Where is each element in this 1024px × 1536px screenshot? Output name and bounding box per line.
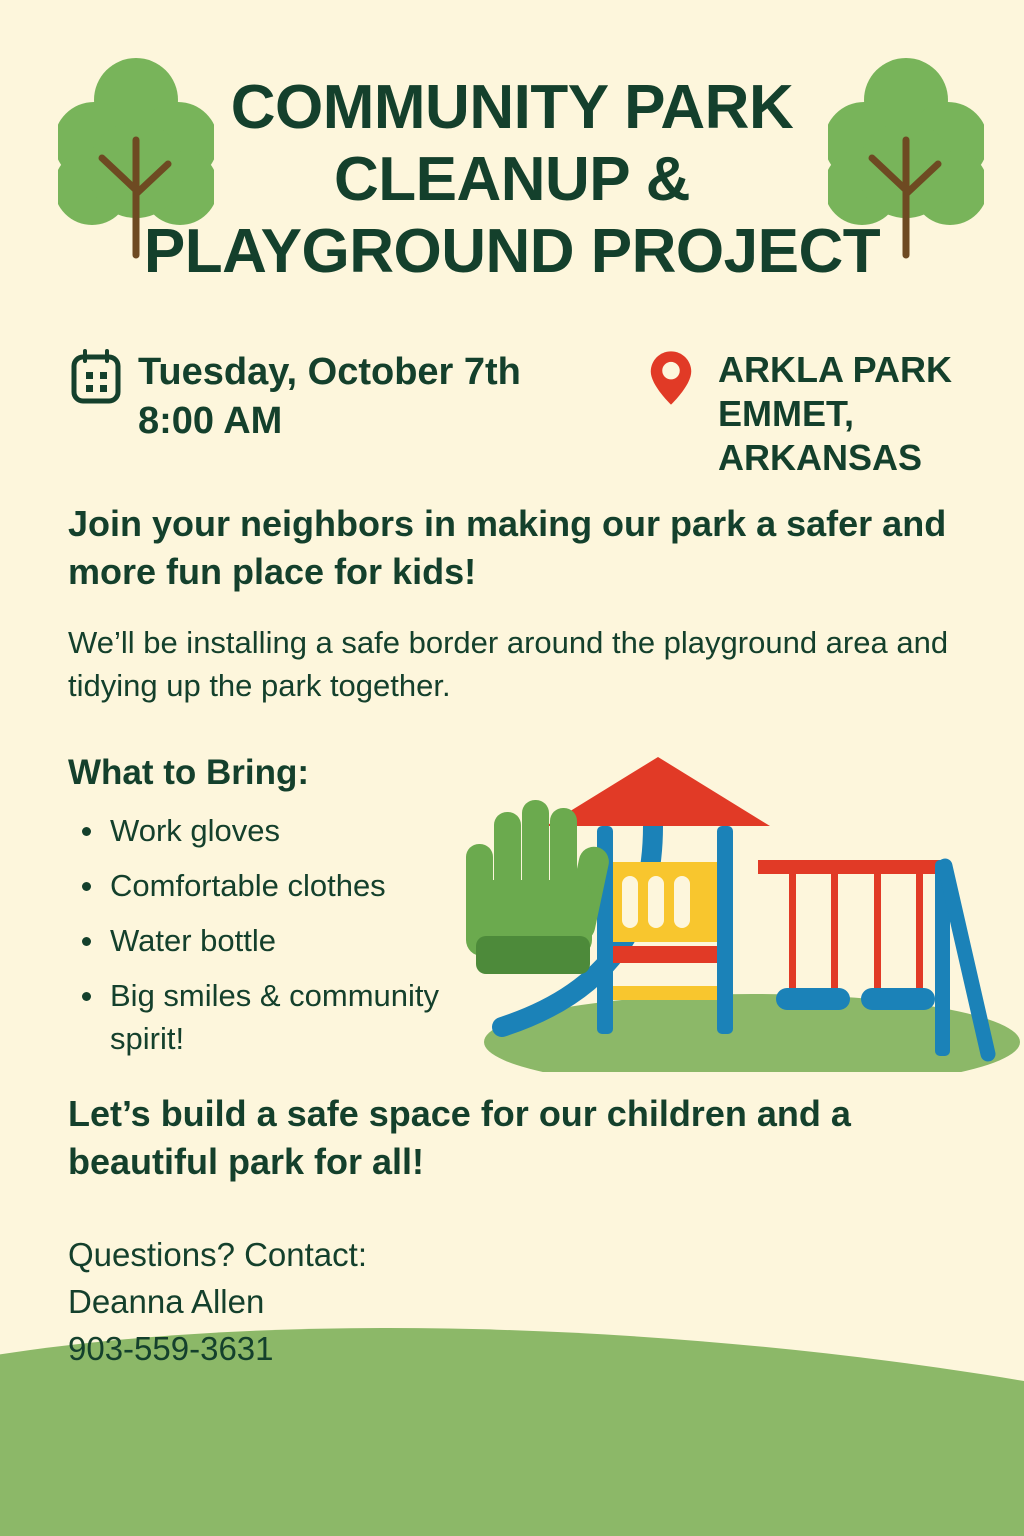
what-to-bring-heading: What to Bring: — [68, 752, 488, 794]
list-item: Work gloves — [68, 810, 488, 852]
event-meta-row: Tuesday, October 7th 8:00 AM ARKLA PARK … — [68, 348, 968, 480]
closing-statement: Let’s build a safe space for our childre… — [68, 1090, 908, 1186]
calendar-icon — [68, 348, 124, 408]
list-item: Water bottle — [68, 920, 488, 962]
contact-phone: 903-559-3631 — [68, 1326, 608, 1373]
what-to-bring-section: What to Bring: Work gloves Comfortable c… — [68, 752, 488, 1073]
map-pin-icon — [648, 348, 704, 408]
list-item: Comfortable clothes — [68, 865, 488, 907]
flyer-poster: COMMUNITY PARK CLEANUP & PLAYGROUND PROJ… — [0, 0, 1024, 1536]
tower-rung — [606, 986, 722, 1000]
event-location-block: ARKLA PARK EMMET, ARKANSAS — [648, 348, 968, 480]
event-date-block: Tuesday, October 7th 8:00 AM — [68, 348, 648, 445]
sub-paragraph: We’ll be installing a safe border around… — [68, 622, 978, 708]
tower-roof — [546, 757, 770, 826]
title-line-1: COMMUNITY PARK — [0, 72, 1024, 144]
event-date-text: Tuesday, October 7th 8:00 AM — [138, 348, 521, 445]
playground-illustration — [440, 742, 1024, 1072]
tower-post — [717, 826, 733, 1034]
event-date-line-1: Tuesday, October 7th — [138, 351, 521, 393]
what-to-bring-list: Work gloves Comfortable clothes Water bo… — [68, 810, 488, 1060]
tower-post — [597, 826, 613, 1034]
title-line-2: CLEANUP & — [0, 144, 1024, 216]
contact-name: Deanna Allen — [68, 1279, 608, 1326]
list-item: Big smiles & community spirit! — [68, 975, 488, 1059]
title-line-3: PLAYGROUND PROJECT — [0, 216, 1024, 288]
lead-paragraph: Join your neighbors in making our park a… — [68, 500, 948, 595]
swing-seat — [861, 988, 935, 1010]
location-line-2: EMMET, — [718, 392, 952, 436]
swing-seat — [776, 988, 850, 1010]
event-date-line-2: 8:00 AM — [138, 397, 521, 446]
tower-band — [606, 946, 722, 963]
event-location-text: ARKLA PARK EMMET, ARKANSAS — [718, 348, 952, 480]
location-line-1: ARKLA PARK — [718, 349, 952, 390]
contact-block: Questions? Contact: Deanna Allen 903-559… — [68, 1232, 608, 1373]
page-title: COMMUNITY PARK CLEANUP & PLAYGROUND PROJ… — [0, 72, 1024, 288]
location-line-3: ARKANSAS — [718, 436, 952, 480]
contact-prompt: Questions? Contact: — [68, 1232, 608, 1279]
